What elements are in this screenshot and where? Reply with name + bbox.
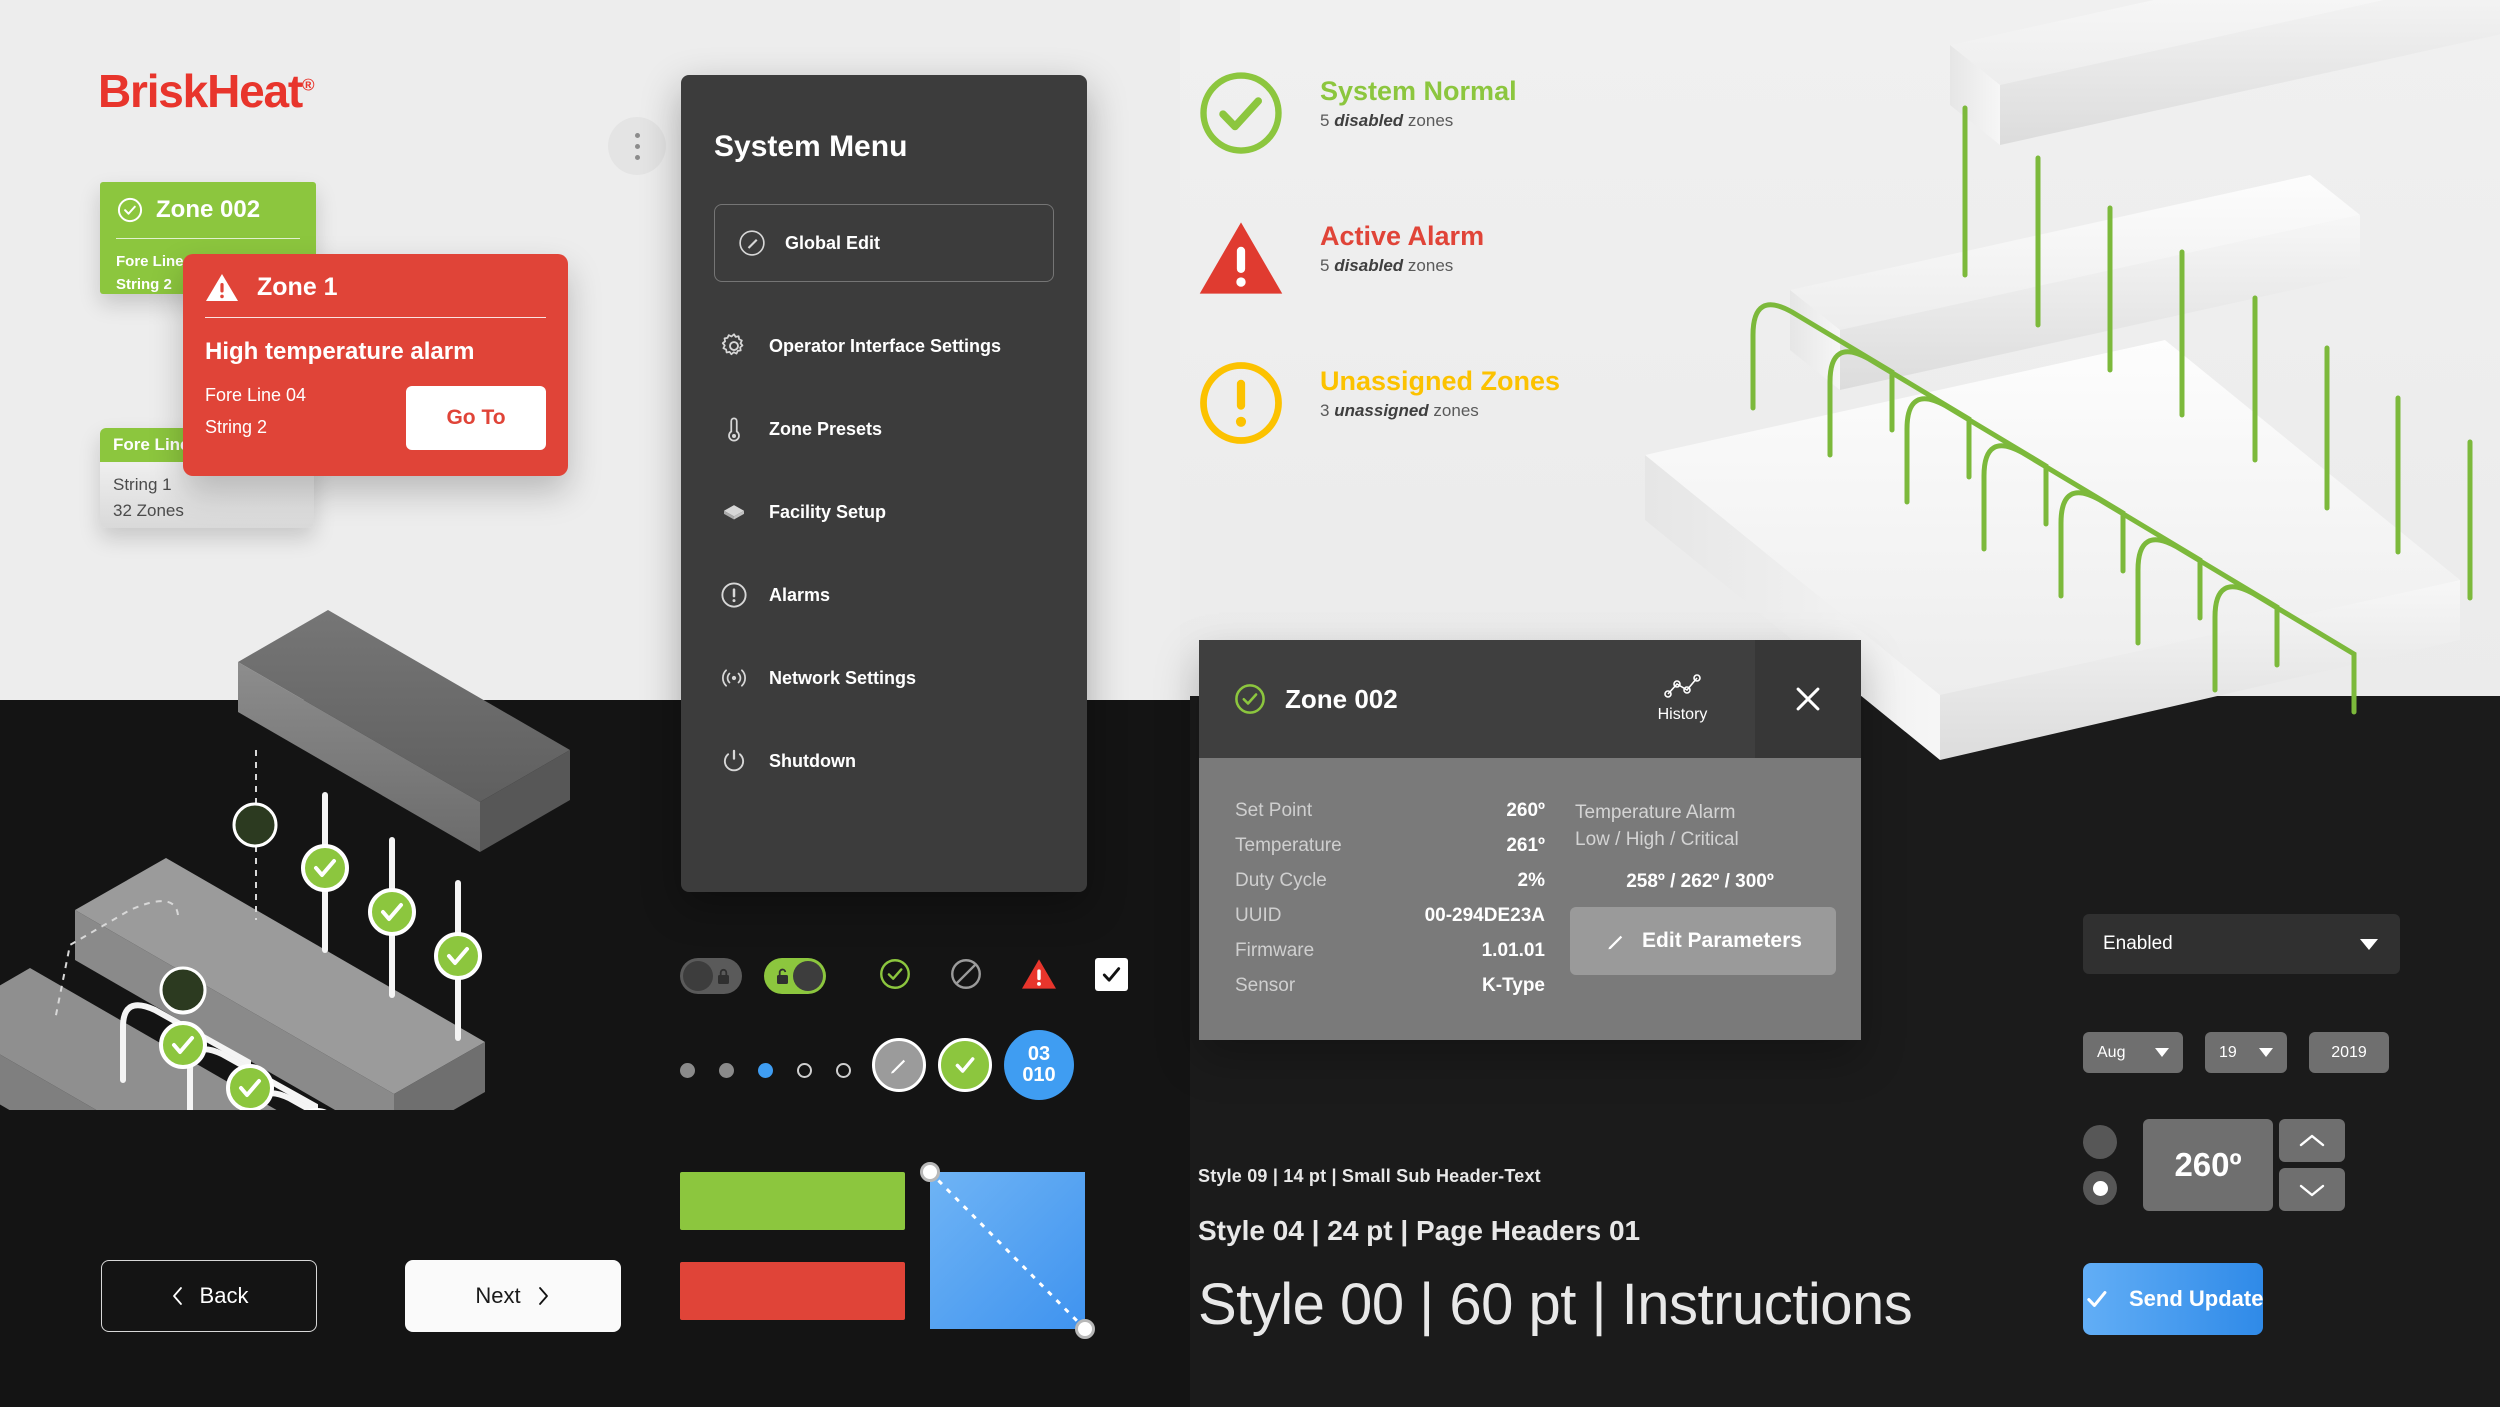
wizard-navigation: Back Next <box>101 1260 621 1332</box>
zone-alarm-values: 258º / 262º / 300º <box>1575 871 1825 893</box>
status-text-block: Active Alarm 5 disabled zones <box>1320 213 1484 276</box>
zone-spec-row: Temperature 261º <box>1235 835 1545 857</box>
toggle-samples <box>680 958 826 994</box>
line-chart-icon <box>1664 674 1702 700</box>
more-vertical-icon[interactable] <box>608 117 666 175</box>
alarm-card-header: Zone 1 <box>205 272 546 303</box>
zone-spec-row: Duty Cycle 2% <box>1235 870 1545 892</box>
zone-spec-row: UUID 00-294DE23A <box>1235 905 1545 927</box>
edit-circle-button[interactable] <box>872 1038 926 1092</box>
day-value: 19 <box>2219 1044 2237 1062</box>
chevron-right-icon <box>535 1284 551 1308</box>
status-title: System Normal <box>1320 76 1517 107</box>
zone-spec-value: 261º <box>1506 835 1545 857</box>
chevron-down-icon <box>2297 1181 2327 1199</box>
zone-alarm-title-line2: Low / High / Critical <box>1575 827 1825 854</box>
block-circle-icon[interactable] <box>949 957 983 991</box>
status-title: Active Alarm <box>1320 221 1484 252</box>
month-select[interactable]: Aug <box>2083 1032 2183 1073</box>
menu-item-label: Global Edit <box>785 233 880 254</box>
isometric-rack-illustration-dark <box>0 590 620 1110</box>
status-subtitle: 3 unassigned zones <box>1320 401 1560 421</box>
fore-line-card-line-2: 32 Zones <box>113 498 301 524</box>
zone-spec-row: Sensor K-Type <box>1235 975 1545 997</box>
zone-detail-body: Set Point 260º Temperature 261º Duty Cyc… <box>1199 758 1861 1040</box>
radio-option-unselected[interactable] <box>2083 1125 2117 1159</box>
history-label: History <box>1658 706 1708 724</box>
status-text-block: Unassigned Zones 3 unassigned zones <box>1320 358 1560 421</box>
zone-spec-key: Firmware <box>1235 940 1314 962</box>
chevron-up-icon <box>2297 1132 2327 1150</box>
zone-card-divider <box>116 238 300 239</box>
toggle-knob <box>793 961 823 991</box>
close-button[interactable] <box>1755 640 1861 758</box>
zone-detail-title: Zone 002 <box>1285 684 1398 715</box>
back-button-label: Back <box>200 1283 249 1309</box>
alarm-card-divider <box>205 317 546 318</box>
go-to-button[interactable]: Go To <box>406 386 546 450</box>
temperature-stepper-row: 260º <box>2083 1119 2400 1211</box>
send-update-button[interactable]: Send Update <box>2083 1263 2263 1335</box>
status-row-unassigned-zones: Unassigned Zones 3 unassigned zones <box>1196 358 1560 448</box>
swatch-green <box>680 1172 905 1230</box>
next-button-label: Next <box>475 1283 520 1309</box>
system-menu-panel: System Menu Global Edit Operator Interfa… <box>681 75 1087 892</box>
power-icon <box>719 746 749 776</box>
zone-spec-value: K-Type <box>1482 975 1545 997</box>
sidebar-item-label: Network Settings <box>769 668 916 689</box>
toggle-unlocked-on[interactable] <box>764 958 826 994</box>
zone-spec-value: 260º <box>1506 800 1545 822</box>
radio-group <box>2083 1125 2117 1205</box>
sidebar-item-alarms[interactable]: Alarms <box>714 576 1054 614</box>
system-status-list: System Normal 5 disabled zones Active Al… <box>1196 68 1560 503</box>
zone-alarm-title: Temperature Alarm Low / High / Critical <box>1575 800 1825 853</box>
checkbox-checked-icon[interactable] <box>1095 958 1128 991</box>
edit-parameters-label: Edit Parameters <box>1642 929 1802 953</box>
caret-down-icon <box>2259 1048 2273 1057</box>
pencil-icon <box>886 1052 912 1078</box>
zone-spec-row: Firmware 1.01.01 <box>1235 940 1545 962</box>
type-specimen-style-09: Style 09 | 14 pt | Small Sub Header-Text <box>1198 1166 1912 1187</box>
status-emphasis: unassigned <box>1334 401 1428 420</box>
pagination-dots <box>680 1063 851 1078</box>
status-row-active-alarm: Active Alarm 5 disabled zones <box>1196 213 1560 303</box>
status-text-block: System Normal 5 disabled zones <box>1320 68 1517 131</box>
stepper-buttons <box>2279 1119 2345 1211</box>
check-icon <box>2083 1285 2111 1313</box>
thermometer-icon <box>719 414 749 444</box>
chevron-left-icon <box>170 1284 186 1308</box>
circle-button-samples: 03 010 <box>872 1030 1074 1100</box>
zone-card-title: Zone 002 <box>156 196 260 224</box>
pagination-dot[interactable] <box>719 1063 734 1078</box>
caret-down-icon <box>2155 1048 2169 1057</box>
zone-alarm-block: Temperature Alarm Low / High / Critical … <box>1545 800 1825 1040</box>
zone-spec-row: Set Point 260º <box>1235 800 1545 822</box>
status-subtitle: 5 disabled zones <box>1320 111 1517 131</box>
status-icon-samples <box>878 957 1128 991</box>
type-specimen-style-04: Style 04 | 24 pt | Page Headers 01 <box>1198 1215 1912 1247</box>
pencil-circle-icon <box>737 228 767 258</box>
radio-option-selected[interactable] <box>2083 1171 2117 1205</box>
status-count: 5 <box>1320 256 1329 275</box>
right-control-stack: Enabled Aug 19 2019 260º <box>2083 914 2400 1335</box>
alarm-card-title: Zone 1 <box>257 273 338 302</box>
wifi-icon <box>719 663 749 693</box>
sidebar-item-label: Shutdown <box>769 751 856 772</box>
alert-circle-icon <box>1196 358 1286 448</box>
sidebar-item-zone-presets[interactable]: Zone Presets <box>714 410 1054 448</box>
pagination-dot-active[interactable] <box>758 1063 773 1078</box>
sidebar-item-network-settings[interactable]: Network Settings <box>714 659 1054 697</box>
warning-triangle-icon[interactable] <box>1020 957 1058 991</box>
zone-detail-title-group: Zone 002 <box>1199 640 1610 758</box>
next-button[interactable]: Next <box>405 1260 621 1332</box>
alarm-card-message: High temperature alarm <box>205 338 546 366</box>
logo-text: BriskHeat <box>98 65 302 117</box>
check-circle-icon <box>1233 682 1267 716</box>
kebab-dot <box>635 155 640 160</box>
enabled-select[interactable]: Enabled <box>2083 914 2400 974</box>
temperature-value-display: 260º <box>2143 1119 2273 1211</box>
menu-item-global-edit[interactable]: Global Edit <box>714 204 1054 282</box>
selection-handle-bottom-right[interactable] <box>1075 1319 1095 1339</box>
app-canvas: BriskHeat® Zone 002 Fore Line 0 String 2… <box>0 0 2500 1407</box>
zone-spec-key: UUID <box>1235 905 1281 927</box>
sidebar-item-facility-setup[interactable]: Facility Setup <box>714 493 1054 531</box>
zone-spec-key: Sensor <box>1235 975 1295 997</box>
pencil-icon <box>1604 929 1628 953</box>
status-emphasis: disabled <box>1334 111 1403 130</box>
briskheat-logo: BriskHeat® <box>98 64 313 118</box>
system-menu-title: System Menu <box>714 130 1054 164</box>
check-circle-icon <box>1196 68 1286 158</box>
sidebar-item-shutdown[interactable]: Shutdown <box>714 742 1054 780</box>
pagination-dot[interactable] <box>680 1063 695 1078</box>
page-counter-bottom: 010 <box>1022 1065 1055 1086</box>
sidebar-item-label: Alarms <box>769 585 830 606</box>
status-count: 5 <box>1320 111 1329 130</box>
caret-down-icon <box>2360 939 2378 950</box>
zone-detail-header: Zone 002 History <box>1199 640 1861 758</box>
close-icon <box>1791 682 1825 716</box>
selection-box[interactable] <box>930 1172 1085 1329</box>
enabled-select-value: Enabled <box>2103 933 2173 955</box>
radio-inner-dot <box>2093 1181 2108 1196</box>
lock-open-icon <box>774 967 791 986</box>
kebab-dot <box>635 144 640 149</box>
status-emphasis: disabled <box>1334 256 1403 275</box>
sidebar-item-operator-interface-settings[interactable]: Operator Interface Settings <box>714 327 1054 365</box>
sidebar-item-label: Zone Presets <box>769 419 882 440</box>
sidebar-item-label: Facility Setup <box>769 502 886 523</box>
status-title: Unassigned Zones <box>1320 366 1560 397</box>
check-circle-icon <box>116 196 144 224</box>
zone-spec-key: Duty Cycle <box>1235 870 1327 892</box>
stepper-up-button[interactable] <box>2279 1119 2345 1162</box>
status-subtitle: 5 disabled zones <box>1320 256 1484 276</box>
date-picker-row: Aug 19 2019 <box>2083 1032 2400 1073</box>
pagination-dot[interactable] <box>836 1063 851 1078</box>
page-counter-top: 03 <box>1028 1044 1050 1065</box>
selection-diagonal <box>930 1172 1085 1329</box>
layers-icon <box>719 497 749 527</box>
zone-card-header: Zone 002 <box>116 196 300 224</box>
stepper-down-button[interactable] <box>2279 1168 2345 1211</box>
status-row-system-normal: System Normal 5 disabled zones <box>1196 68 1560 158</box>
zone-spec-value: 00-294DE23A <box>1425 905 1545 927</box>
zone-detail-panel: Zone 002 History Se <box>1199 640 1861 1040</box>
warning-triangle-icon <box>1196 213 1286 303</box>
status-suffix: zones <box>1433 401 1478 420</box>
page-counter-button[interactable]: 03 010 <box>1004 1030 1074 1100</box>
warning-triangle-icon <box>205 272 239 303</box>
zone-spec-value: 1.01.01 <box>1482 940 1545 962</box>
alarm-card[interactable]: Zone 1 High temperature alarm Fore Line … <box>183 254 568 476</box>
status-suffix: zones <box>1408 256 1453 275</box>
gear-icon <box>719 331 749 361</box>
type-specimen-style-00: Style 00 | 60 pt | Instructions <box>1198 1271 1912 1338</box>
day-select[interactable]: 19 <box>2205 1032 2287 1073</box>
zone-spec-key: Set Point <box>1235 800 1312 822</box>
back-button[interactable]: Back <box>101 1260 317 1332</box>
edit-parameters-button[interactable]: Edit Parameters <box>1570 907 1836 975</box>
swatch-red <box>680 1262 905 1320</box>
logo-registered-mark: ® <box>302 76 313 95</box>
zone-spec-key: Temperature <box>1235 835 1342 857</box>
check-icon <box>951 1051 979 1079</box>
status-suffix: zones <box>1408 111 1453 130</box>
history-button[interactable]: History <box>1610 640 1755 758</box>
alert-circle-icon <box>719 580 749 610</box>
pagination-dot[interactable] <box>797 1063 812 1078</box>
year-value: 2019 <box>2331 1044 2367 1062</box>
sidebar-item-label: Operator Interface Settings <box>769 336 1001 357</box>
toggle-knob <box>683 961 713 991</box>
month-value: Aug <box>2097 1044 2125 1062</box>
selection-handle-top-left[interactable] <box>920 1162 940 1182</box>
zone-spec-list: Set Point 260º Temperature 261º Duty Cyc… <box>1235 800 1545 1040</box>
confirm-circle-button[interactable] <box>938 1038 992 1092</box>
lock-closed-icon <box>715 967 732 986</box>
status-count: 3 <box>1320 401 1329 420</box>
toggle-locked-off[interactable] <box>680 958 742 994</box>
zone-spec-value: 2% <box>1518 870 1545 892</box>
type-specimen-block: Style 09 | 14 pt | Small Sub Header-Text… <box>1198 1166 1912 1338</box>
check-circle-outline-icon[interactable] <box>878 957 912 991</box>
check-icon <box>1100 963 1123 986</box>
send-update-label: Send Update <box>2129 1286 2263 1312</box>
zone-alarm-title-line1: Temperature Alarm <box>1575 800 1825 827</box>
year-field[interactable]: 2019 <box>2309 1032 2389 1073</box>
kebab-dot <box>635 133 640 138</box>
